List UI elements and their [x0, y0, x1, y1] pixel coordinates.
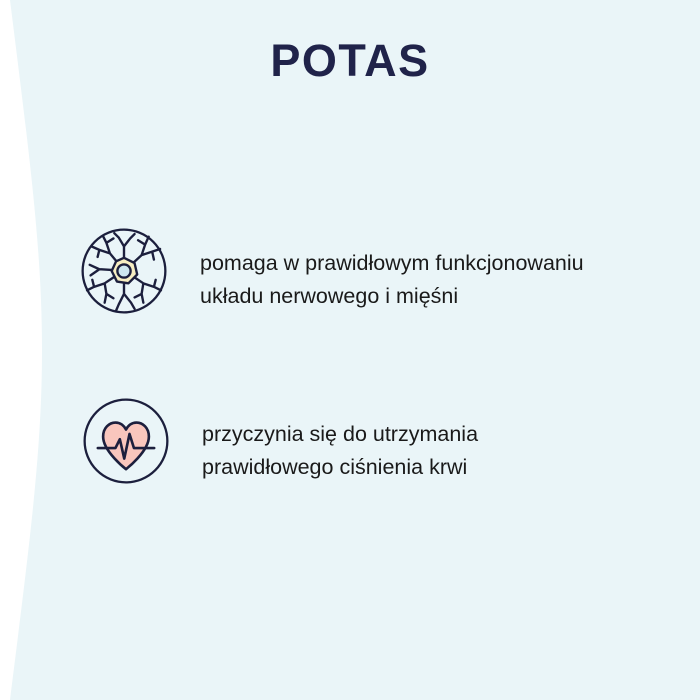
- neuron-icon: [80, 227, 168, 315]
- left-decorative-curve: [0, 0, 70, 700]
- benefit-item-nervous-system: pomaga w prawidłowym funkcjonowaniu ukła…: [80, 227, 584, 315]
- benefit-text: przyczynia się do utrzymania prawidłoweg…: [202, 397, 478, 483]
- benefit-text: pomaga w prawidłowym funkcjonowaniu ukła…: [200, 227, 584, 312]
- benefit-item-blood-pressure: przyczynia się do utrzymania prawidłoweg…: [82, 397, 478, 485]
- heart-pulse-icon: [82, 397, 170, 485]
- page-title: POTAS: [0, 38, 700, 83]
- potassium-infographic: POTAS pomaga w prawidłowym funkcjonowani…: [0, 0, 700, 700]
